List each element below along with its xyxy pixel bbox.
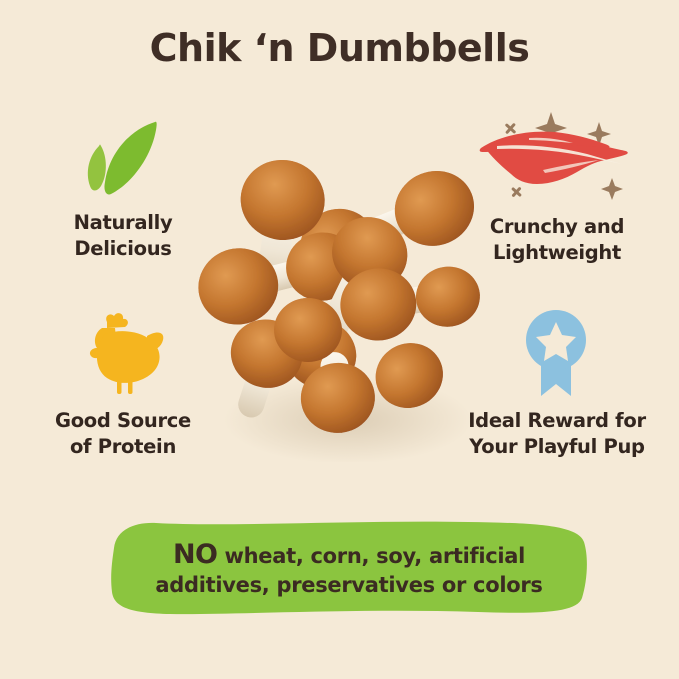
feather-icon xyxy=(477,104,637,208)
feature-label: Crunchy and Lightweight xyxy=(490,214,624,266)
feature-label: Good Source of Protein xyxy=(55,408,191,460)
feather-icon-wrap xyxy=(477,104,637,208)
leaves-icon-wrap xyxy=(77,108,169,204)
leaves-icon xyxy=(77,110,169,202)
claim-banner: NO wheat, corn, soy, artificial additive… xyxy=(108,518,590,618)
product-photo xyxy=(196,152,488,462)
claim-banner-text: NO wheat, corn, soy, artificial additive… xyxy=(108,518,590,618)
product-infographic: Chik ‘n Dumbbells xyxy=(0,0,679,679)
page-title: Chik ‘n Dumbbells xyxy=(0,26,679,70)
product-photo-image xyxy=(196,152,488,462)
feature-naturally-delicious: Naturally Delicious xyxy=(18,108,228,262)
award-ribbon-icon xyxy=(511,306,603,402)
feature-crunchy-lightweight: Crunchy and Lightweight xyxy=(452,104,662,266)
claim-emphasis: NO xyxy=(173,539,218,570)
feature-good-source-of-protein: Good Source of Protein xyxy=(18,306,228,460)
chicken-icon-wrap xyxy=(77,306,169,402)
chicken-icon xyxy=(77,308,169,400)
feature-label: Ideal Reward for Your Playful Pup xyxy=(468,408,646,460)
feature-ideal-reward: Ideal Reward for Your Playful Pup xyxy=(452,306,662,460)
award-ribbon-icon-wrap xyxy=(511,306,603,402)
feature-label: Naturally Delicious xyxy=(74,210,173,262)
